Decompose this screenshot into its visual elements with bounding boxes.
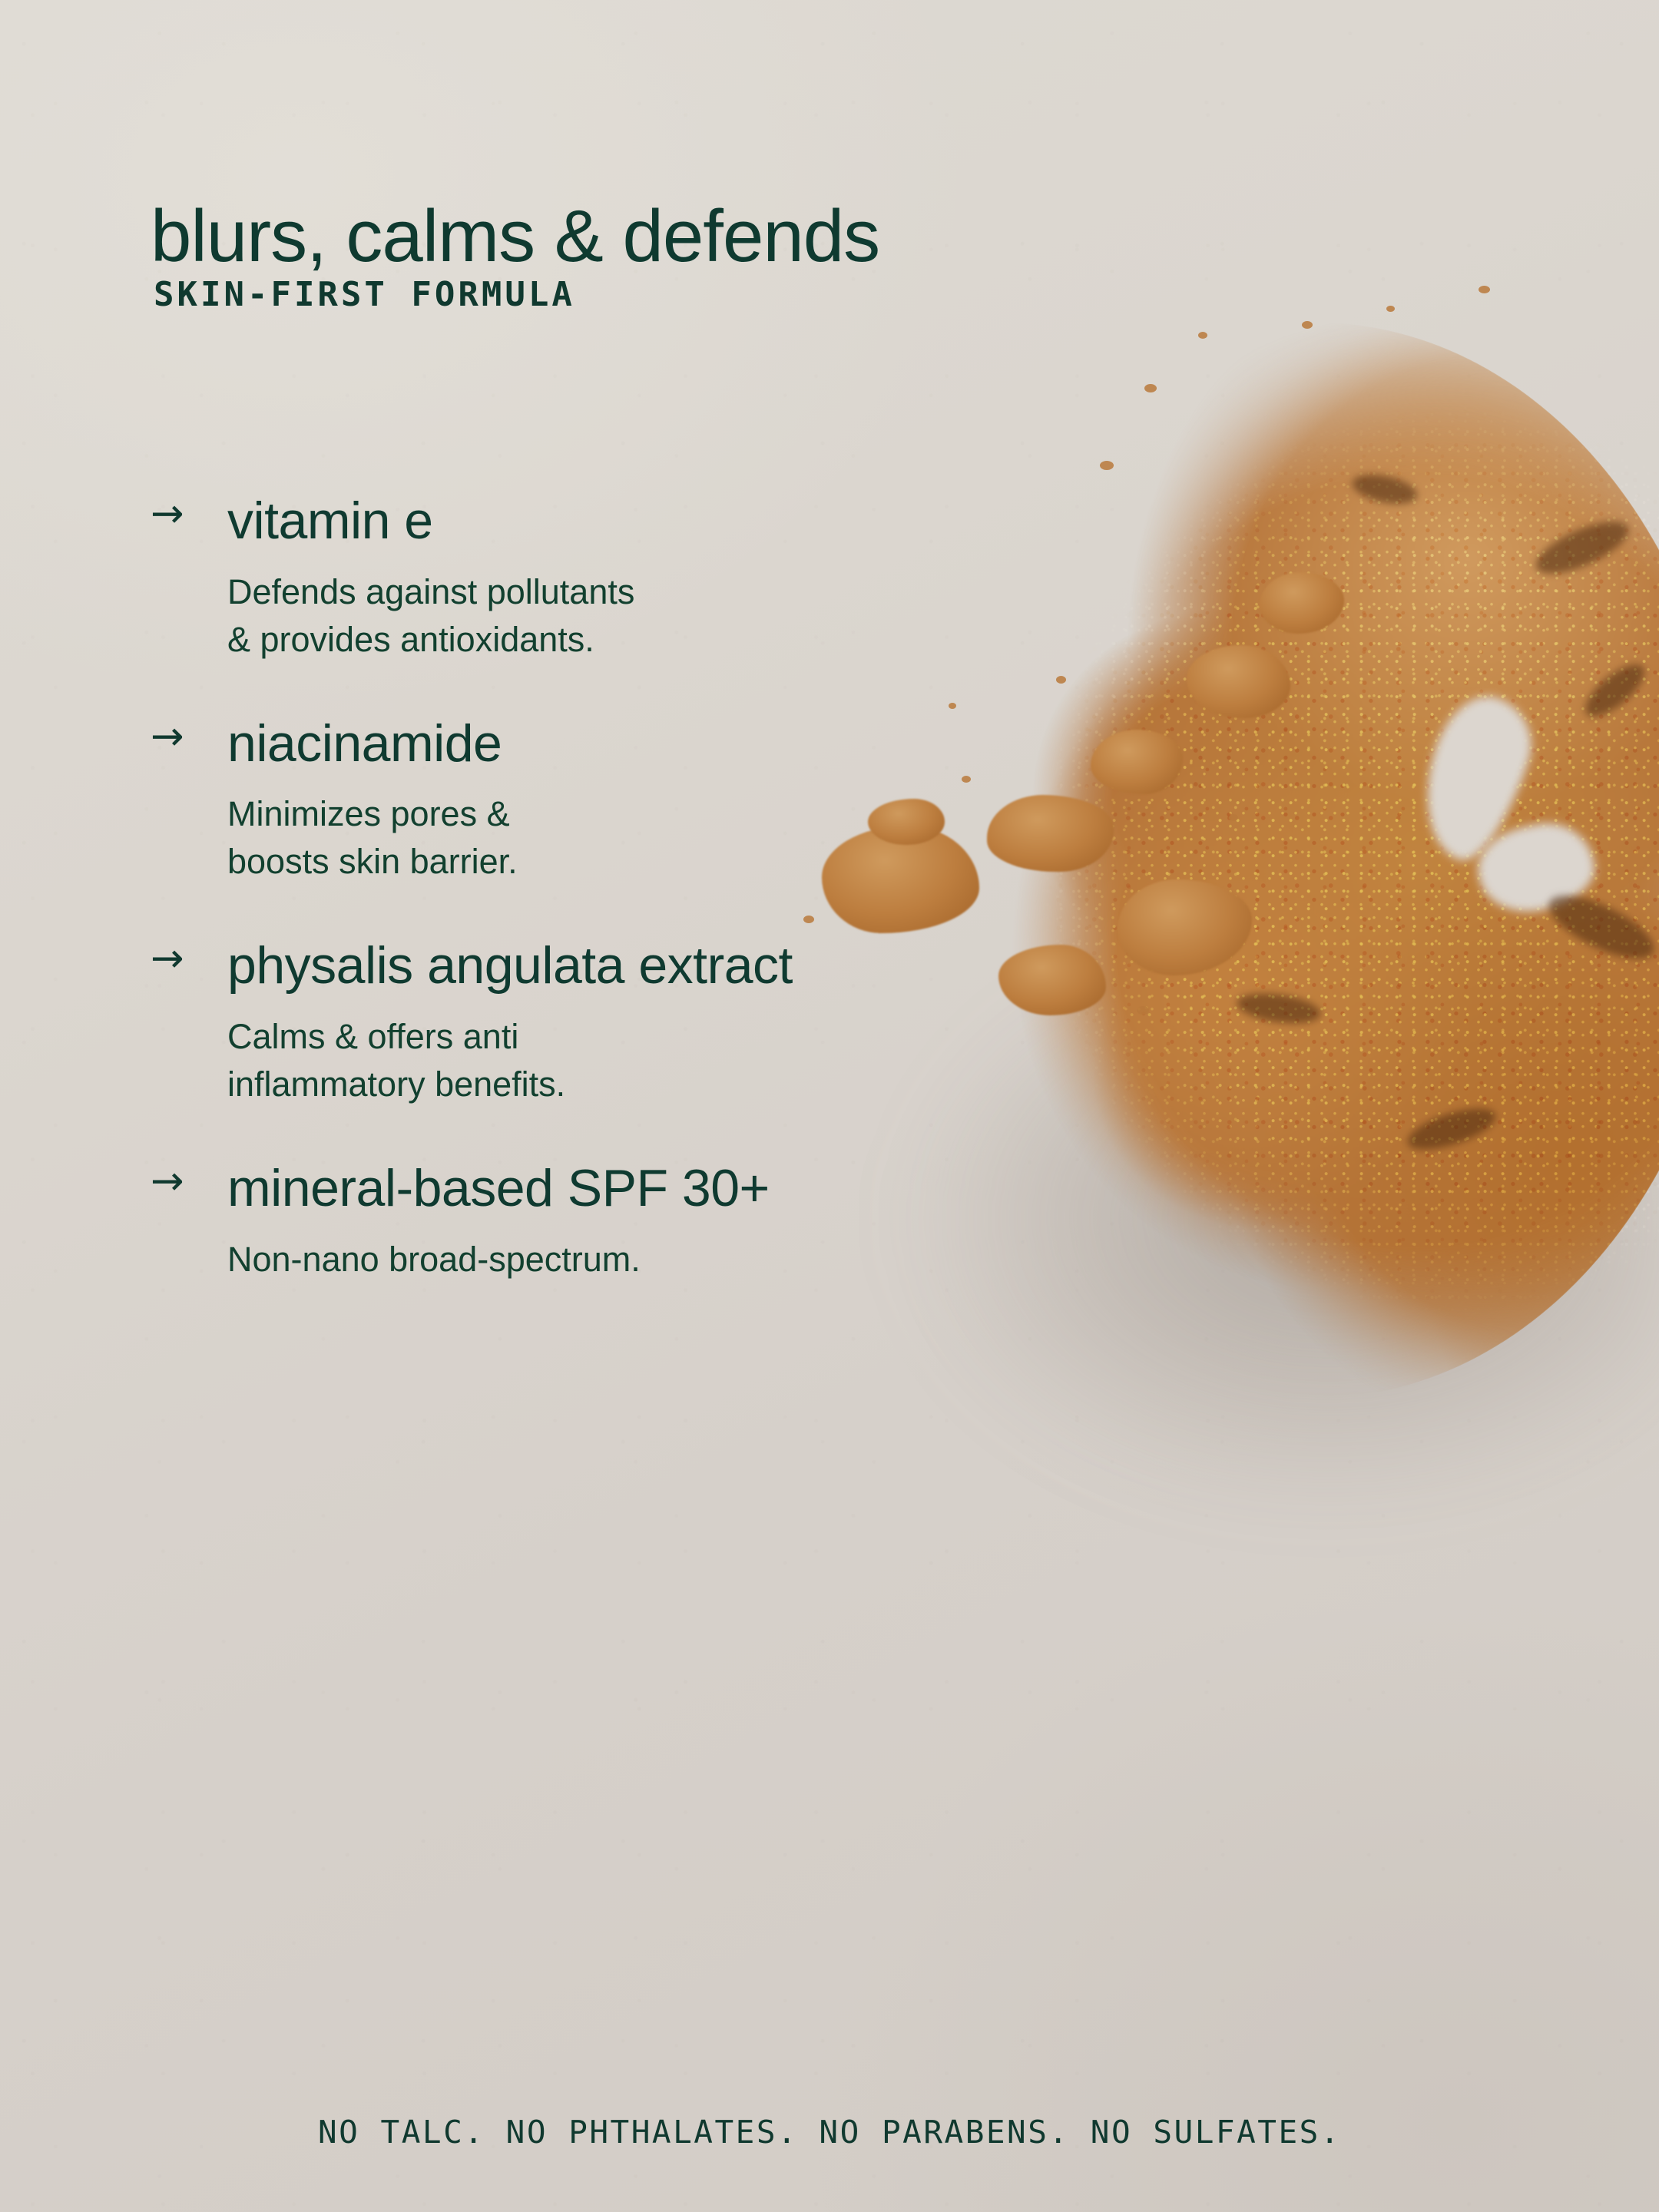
ingredient-description: Minimizes pores & boosts skin barrier. bbox=[227, 790, 857, 886]
ingredient-list: → vitamin e Defends against pollutants &… bbox=[151, 492, 1034, 1283]
free-from-claims: NO TALC. NO PHTHALATES. NO PARABENS. NO … bbox=[0, 2114, 1659, 2151]
list-item: → physalis angulata extract Calms & offe… bbox=[151, 936, 1034, 1108]
list-item: → vitamin e Defends against pollutants &… bbox=[151, 492, 1034, 664]
list-item: → niacinamide Minimizes pores & boosts s… bbox=[151, 714, 1034, 886]
ingredient-description: Non-nano broad-spectrum. bbox=[227, 1236, 857, 1283]
ingredient-name: physalis angulata extract bbox=[227, 936, 793, 996]
ingredient-name: vitamin e bbox=[227, 492, 433, 551]
list-item: → mineral-based SPF 30+ Non-nano broad-s… bbox=[151, 1159, 1034, 1283]
arrow-right-icon: → bbox=[151, 936, 195, 981]
arrow-right-icon: → bbox=[151, 1159, 195, 1204]
ingredient-name: mineral-based SPF 30+ bbox=[227, 1159, 770, 1219]
ingredient-name: niacinamide bbox=[227, 714, 502, 774]
product-ingredient-card: blurs, calms & defends SKIN-FIRST FORMUL… bbox=[0, 0, 1659, 2212]
ingredient-description: Calms & offers anti inflammatory benefit… bbox=[227, 1013, 857, 1108]
page-title: blurs, calms & defends bbox=[151, 200, 879, 273]
ingredient-description: Defends against pollutants & provides an… bbox=[227, 568, 857, 664]
page-subtitle: SKIN-FIRST FORMULA bbox=[154, 275, 575, 314]
arrow-right-icon: → bbox=[151, 714, 195, 759]
arrow-right-icon: → bbox=[151, 492, 195, 536]
